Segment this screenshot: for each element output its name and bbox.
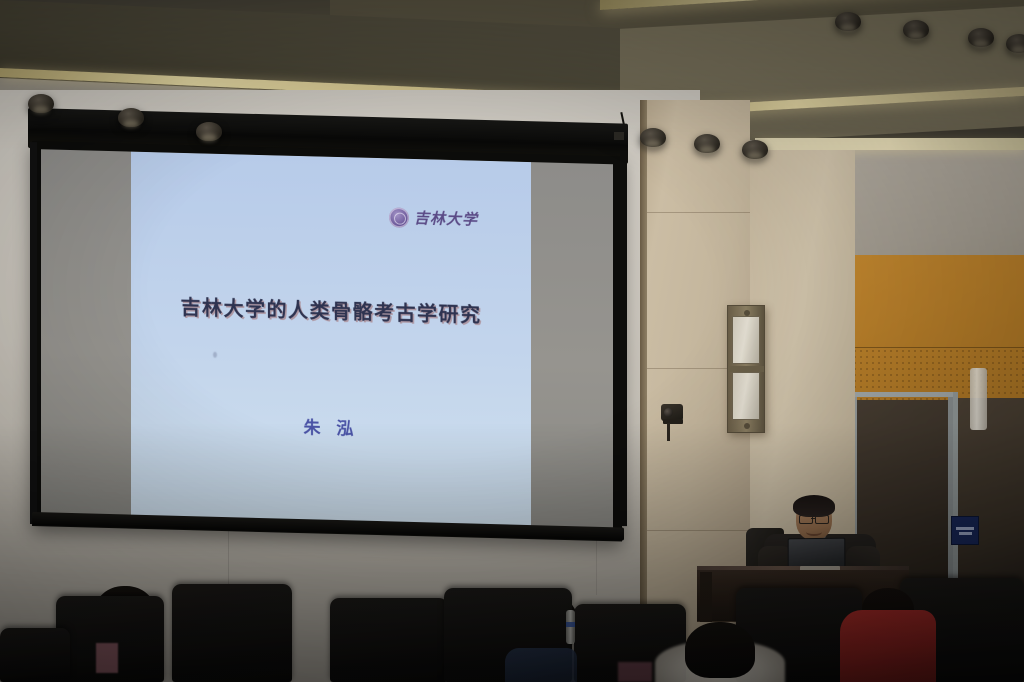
glasses-bridge: [811, 518, 815, 519]
spotlight-icon: [968, 28, 994, 47]
sign-text-line: [956, 527, 974, 530]
stone-column-edge: [640, 100, 647, 682]
presenter-hair: [793, 495, 835, 517]
door-frame-header: [852, 392, 953, 397]
projection-screen: 吉林大学 吉林大学的人类骨骼考古学研究 朱 泓: [28, 108, 628, 526]
camera-mount-pole: [667, 423, 670, 441]
spotlight-icon: [742, 140, 768, 159]
water-bottle: [566, 610, 575, 644]
slide-logo: 吉林大学: [389, 206, 478, 229]
screen-right-edge: [620, 150, 627, 526]
audience-pink-item: [96, 643, 118, 673]
wall-notice-sign: [951, 516, 979, 545]
spotlight-icon: [835, 12, 861, 31]
spotlight-icon: [903, 20, 929, 39]
stone-joint: [640, 212, 750, 213]
sconce-fixture-boss: [744, 310, 750, 316]
door-area-light: [970, 368, 987, 430]
slide-artifact-speck: [213, 352, 217, 358]
glass-door-panel-secondary: [958, 398, 1024, 588]
spotlight-icon: [118, 108, 144, 127]
camera-bracket: [663, 419, 683, 424]
audience-head-fur-collar: [685, 622, 755, 678]
sconce-fixture-boss: [744, 423, 750, 429]
podium-leg: [700, 572, 712, 622]
audience-chair: [172, 584, 292, 682]
spotlight-icon: [1006, 34, 1024, 53]
ceiling-edge-light: [755, 138, 1024, 150]
spotlight-icon: [694, 134, 720, 153]
glasses-icon: [799, 515, 813, 524]
slide-author: 朱 泓: [131, 409, 531, 444]
glasses-icon: [815, 515, 829, 524]
sconce-glass-panel-bottom: [732, 372, 760, 420]
jilin-university-seal-icon: [389, 207, 409, 228]
lecture-hall-photo: 吉林大学 吉林大学的人类骨骼考古学研究 朱 泓: [0, 0, 1024, 682]
spotlight-icon: [196, 122, 222, 141]
screen-surface: 吉林大学 吉林大学的人类骨骼考古学研究 朱 泓: [41, 149, 613, 529]
screen-left-edge: [30, 142, 37, 524]
screen-case-knob: [614, 132, 624, 140]
spotlight-icon: [640, 128, 666, 147]
water-bottle-cap: [566, 622, 575, 627]
spotlight-icon: [28, 94, 54, 113]
sign-text-line: [959, 532, 972, 535]
audience-member-shoulder: [505, 648, 577, 682]
audience-member-red-coat: [840, 610, 936, 682]
acoustic-panel-seam: [828, 347, 1024, 348]
audience-pink-item: [618, 662, 652, 682]
projected-slide: 吉林大学 吉林大学的人类骨骼考古学研究 朱 泓: [131, 152, 531, 527]
slide-title: 吉林大学的人类骨骼考古学研究: [131, 290, 531, 329]
wall-sconce: [727, 305, 765, 433]
door-frame: [953, 392, 958, 588]
presenter-smile: [806, 528, 822, 536]
sconce-glass-panel-top: [732, 316, 760, 364]
slide-logo-text: 吉林大学: [414, 207, 478, 230]
audience-chair: [0, 628, 70, 682]
stone-joint: [640, 530, 750, 531]
camera-lens-icon: [664, 408, 673, 417]
screen-body: 吉林大学 吉林大学的人类骨骼考古学研究 朱 泓: [32, 141, 622, 541]
audience-chair: [330, 598, 448, 682]
